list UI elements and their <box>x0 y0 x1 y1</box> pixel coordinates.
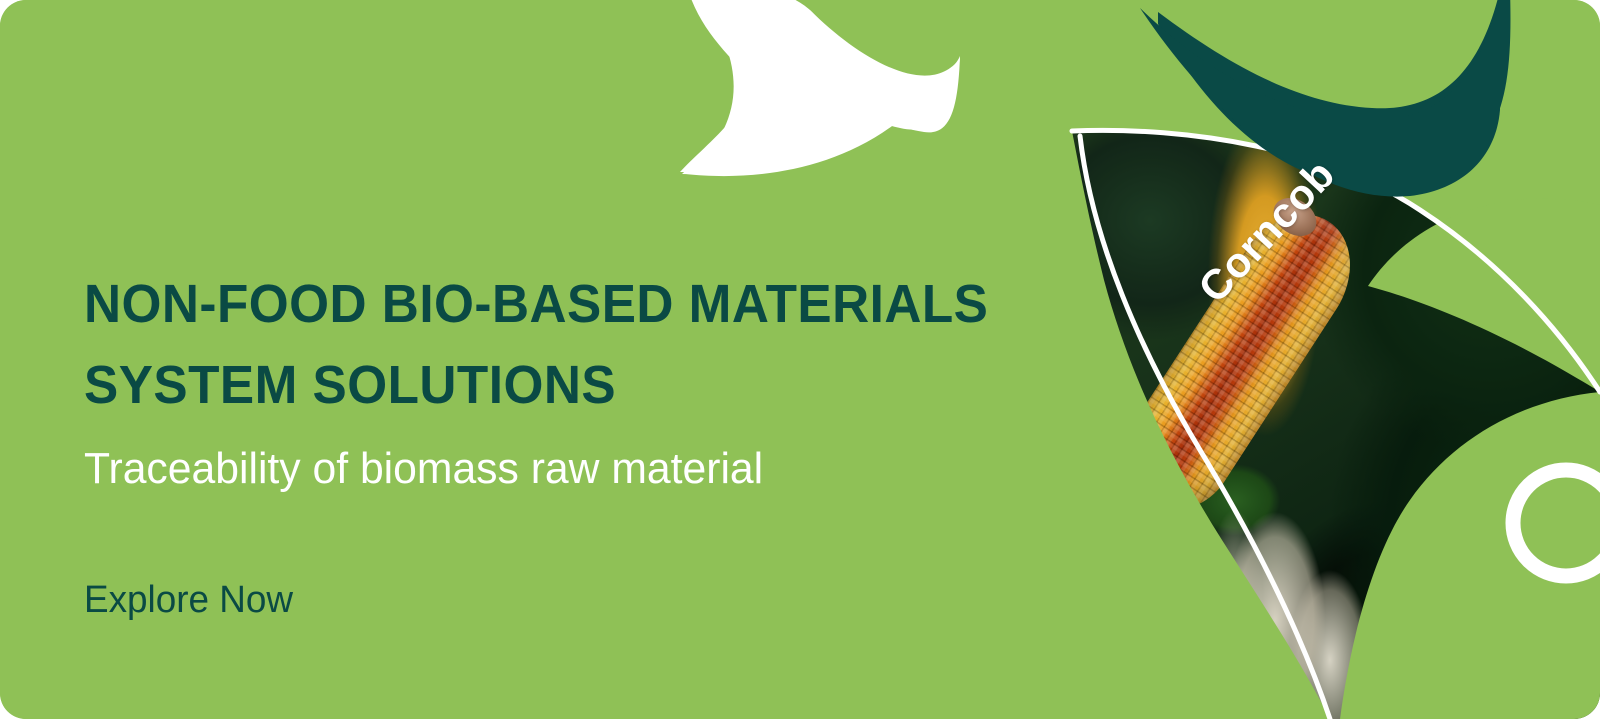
explore-now-link[interactable]: Explore Now <box>84 575 293 625</box>
page-title: NON-FOOD BIO-BASED MATERIALS SYSTEM SOLU… <box>84 264 988 426</box>
banner-content: NON-FOOD BIO-BASED MATERIALS SYSTEM SOLU… <box>84 0 1084 719</box>
promo-banner: Corncob NON-FOOD BIO-BASED MATERIALS SYS… <box>0 0 1600 719</box>
banner-subtitle: Traceability of biomass raw material <box>84 441 763 497</box>
